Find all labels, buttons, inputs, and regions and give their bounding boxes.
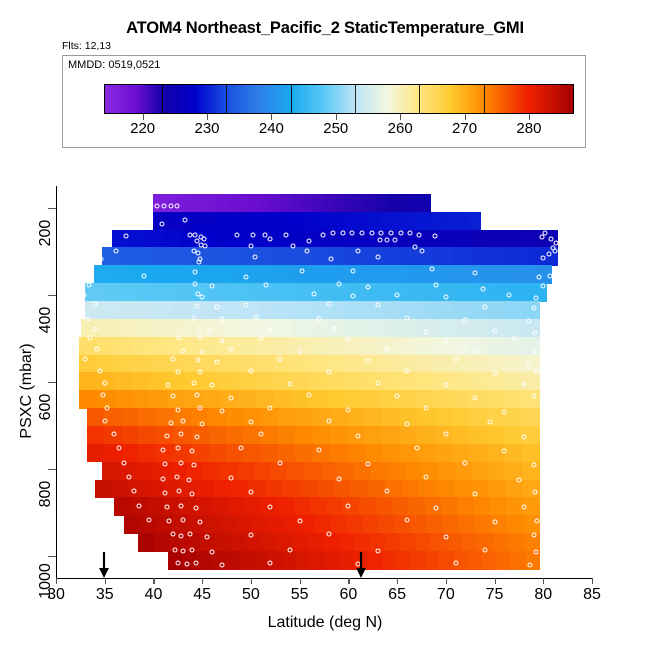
data-point-marker	[253, 314, 258, 319]
data-point-marker	[473, 491, 478, 496]
heatmap-cell	[261, 444, 279, 462]
data-point-marker	[480, 286, 485, 291]
heatmap-cell	[120, 247, 138, 265]
heatmap-cell	[114, 390, 132, 408]
data-point-marker	[527, 562, 532, 567]
data-point-marker	[531, 348, 536, 353]
heatmap-cell	[325, 551, 340, 570]
heatmap-cell	[120, 301, 138, 319]
heatmap-cell	[344, 390, 362, 408]
heatmap-cell	[300, 480, 318, 498]
heatmap-cell	[459, 515, 476, 533]
heatmap-cell	[365, 408, 383, 426]
data-point-marker	[443, 295, 448, 300]
heatmap-cell	[215, 533, 231, 551]
heatmap-cell	[122, 408, 140, 426]
heatmap-cell	[410, 551, 425, 570]
colorbar-segment-divider	[419, 84, 420, 114]
heatmap-cell	[472, 462, 490, 480]
heatmap-cell	[452, 426, 470, 444]
data-point-marker	[389, 230, 394, 235]
heatmap-cell	[244, 283, 263, 301]
heatmap-cell	[425, 551, 440, 570]
heatmap-cell	[435, 408, 453, 426]
data-point-marker	[287, 548, 292, 553]
heatmap-cell	[274, 337, 292, 355]
heatmap-cell	[292, 212, 305, 230]
heatmap-cell	[334, 480, 352, 498]
heatmap-cell	[122, 426, 140, 444]
data-point-marker	[430, 266, 435, 271]
heatmap-cell	[103, 283, 122, 301]
data-point-marker	[131, 488, 136, 493]
data-point-marker	[268, 504, 273, 509]
data-point-marker	[122, 460, 127, 465]
x-axis-tick	[397, 578, 398, 584]
heatmap-cell	[474, 497, 491, 515]
heatmap-cell	[402, 480, 420, 498]
heatmap-cell	[505, 247, 523, 265]
heatmap-cell	[132, 355, 150, 373]
data-point-marker	[161, 447, 166, 452]
heatmap-cell	[278, 444, 296, 462]
heatmap-cell	[469, 319, 487, 337]
data-point-marker	[375, 548, 380, 553]
heatmap-cell	[405, 212, 418, 230]
heatmap-cell	[209, 426, 227, 444]
heatmap-cell	[468, 355, 486, 373]
data-point-marker	[365, 285, 370, 290]
data-point-marker	[287, 381, 292, 386]
data-point-marker	[453, 357, 458, 362]
heatmap-cell	[504, 408, 522, 426]
heatmap-cell	[521, 390, 539, 408]
heatmap-cell	[291, 372, 309, 390]
heatmap-cell	[120, 283, 139, 301]
heatmap-cell	[270, 265, 288, 283]
x-axis-tick-label: 65	[388, 586, 406, 604]
heatmap-cell	[455, 212, 468, 230]
heatmap-cell	[397, 372, 415, 390]
heatmap-cell	[228, 497, 245, 515]
data-point-marker	[124, 234, 129, 239]
data-point-marker	[200, 349, 205, 354]
heatmap-cell	[504, 390, 522, 408]
heatmap-cell	[287, 265, 305, 283]
data-point-marker	[492, 328, 497, 333]
data-point-marker	[168, 420, 173, 425]
heatmap-cell	[134, 319, 152, 337]
heatmap-cell	[439, 551, 454, 570]
data-point-marker	[209, 383, 214, 388]
heatmap-cell	[295, 444, 313, 462]
heatmap-cell	[488, 480, 506, 498]
heatmap-cell	[504, 426, 522, 444]
heatmap-cell	[191, 212, 204, 230]
data-point-marker	[377, 238, 382, 243]
data-point-marker	[278, 461, 283, 466]
data-point-marker	[193, 232, 198, 237]
x-axis-tick-label: 85	[583, 586, 601, 604]
heatmap-cell	[439, 283, 458, 301]
heatmap-cell	[136, 462, 154, 480]
heatmap-cell	[451, 337, 469, 355]
heatmap-cell	[430, 212, 443, 230]
heatmap-cell	[419, 194, 430, 212]
colorbar-tick-label: 280	[516, 120, 541, 137]
heatmap-cell	[222, 319, 240, 337]
heatmap-cell	[256, 372, 274, 390]
heatmap-cell	[451, 390, 469, 408]
heatmap-cell	[241, 212, 254, 230]
data-point-marker	[258, 336, 263, 341]
data-point-marker	[98, 257, 103, 262]
heatmap-cell	[104, 408, 122, 426]
x-axis-tick-label: 70	[437, 586, 455, 604]
heatmap-cell	[489, 462, 507, 480]
heatmap-cell	[347, 301, 365, 319]
data-point-marker	[482, 547, 487, 552]
heatmap-cell	[138, 533, 154, 551]
heatmap-cell	[203, 212, 216, 230]
data-point-marker	[336, 282, 341, 287]
heatmap-cell	[229, 212, 242, 230]
heatmap-cell	[419, 480, 437, 498]
data-point-marker	[424, 406, 429, 411]
data-point-marker	[170, 532, 175, 537]
data-point-marker	[350, 230, 355, 235]
data-point-marker	[463, 460, 468, 465]
heatmap-cell	[304, 462, 322, 480]
heatmap-cell	[79, 390, 97, 408]
heatmap-cell	[238, 390, 256, 408]
x-axis-tick	[56, 578, 57, 584]
heatmap-cell	[359, 497, 376, 515]
heatmap-cell	[295, 426, 313, 444]
data-point-marker	[379, 230, 384, 235]
heatmap-cell	[274, 390, 292, 408]
heatmap-cell	[340, 265, 358, 283]
heatmap-cell	[382, 426, 400, 444]
data-point-marker	[178, 503, 183, 508]
data-point-marker	[268, 237, 273, 242]
data-point-marker	[434, 283, 439, 288]
heatmap-cell	[380, 212, 393, 230]
data-point-marker	[424, 474, 429, 479]
heatmap-cell	[231, 480, 249, 498]
heatmap-cell	[415, 355, 433, 373]
x-axis-tick-label: 55	[291, 586, 309, 604]
heatmap-cell	[472, 230, 490, 248]
data-point-marker	[548, 273, 553, 278]
data-point-marker	[114, 249, 119, 254]
heatmap-cell	[435, 444, 453, 462]
heatmap-cell	[397, 337, 415, 355]
heatmap-cell	[124, 515, 141, 533]
heatmap-cell	[348, 444, 366, 462]
heatmap-cell	[315, 515, 332, 533]
data-point-marker	[393, 238, 398, 243]
heatmap-cell	[354, 533, 370, 551]
x-axis-tick	[251, 578, 252, 584]
heatmap-cell	[245, 497, 262, 515]
data-point-marker	[192, 462, 197, 467]
heatmap-cell	[309, 355, 327, 373]
heatmap-cell	[358, 265, 376, 283]
heatmap-cell	[310, 319, 328, 337]
data-point-marker	[533, 489, 538, 494]
data-point-marker	[365, 461, 370, 466]
data-point-marker	[180, 517, 185, 522]
y-axis-tick-label: 800	[37, 469, 55, 519]
data-point-marker	[443, 535, 448, 540]
data-point-marker	[385, 347, 390, 352]
data-point-marker	[248, 369, 253, 374]
data-point-marker	[365, 359, 370, 364]
data-point-marker	[541, 256, 546, 261]
data-point-marker	[186, 477, 191, 482]
heatmap-cell	[496, 551, 511, 570]
data-point-marker	[163, 461, 168, 466]
data-point-marker	[502, 409, 507, 414]
data-point-marker	[200, 295, 205, 300]
heatmap-cell	[510, 551, 525, 570]
heatmap-cell	[468, 390, 486, 408]
heatmap-cell	[277, 497, 294, 515]
data-point-marker	[443, 432, 448, 437]
x-axis-tick-label: 45	[193, 586, 211, 604]
colorbar-tick-label: 220	[130, 120, 155, 137]
data-point-marker	[346, 337, 351, 342]
colorbar-gradient	[104, 84, 574, 114]
data-point-marker	[331, 326, 336, 331]
heatmap-cell	[261, 426, 279, 444]
heatmap-cell	[260, 247, 278, 265]
heatmap-cell	[220, 515, 237, 533]
heatmap-cell	[443, 212, 456, 230]
data-point-marker	[453, 560, 458, 565]
heatmap-cell	[382, 247, 400, 265]
heatmap-cell	[137, 301, 155, 319]
data-point-marker	[104, 406, 109, 411]
data-point-marker	[263, 283, 268, 288]
heatmap-cell	[339, 551, 354, 570]
data-point-marker	[482, 305, 487, 310]
heatmap-cell	[504, 301, 522, 319]
data-point-marker	[307, 238, 312, 243]
heatmap-cell	[438, 230, 456, 248]
heatmap-cell	[277, 301, 295, 319]
data-point-marker	[178, 534, 183, 539]
heatmap-cell	[417, 444, 435, 462]
heatmap-cell	[226, 426, 244, 444]
heatmap-cell	[362, 355, 380, 373]
data-point-marker	[398, 230, 403, 235]
heatmap-cell	[291, 355, 309, 373]
data-point-marker	[178, 460, 183, 465]
heatmap-cell	[438, 462, 456, 480]
data-point-marker	[404, 369, 409, 374]
heatmap-cell	[274, 355, 292, 373]
data-point-marker	[198, 406, 203, 411]
heatmap-cell	[408, 497, 425, 515]
heatmap-cell	[388, 462, 406, 480]
heatmap-cell	[95, 480, 113, 498]
heatmap-cell	[522, 444, 540, 462]
data-point-marker	[100, 393, 105, 398]
data-point-marker	[521, 504, 526, 509]
mmdd-label: MMDD: 0519,0521	[68, 59, 160, 71]
page-title: ATOM4 Northeast_Pacific_2 StaticTemperat…	[0, 19, 650, 38]
heatmap-cell	[317, 212, 330, 230]
data-point-marker	[162, 203, 167, 208]
data-point-marker	[473, 271, 478, 276]
data-point-marker	[229, 347, 234, 352]
heatmap-cell	[411, 265, 429, 283]
heatmap-cell	[457, 283, 476, 301]
heatmap-cell	[132, 390, 150, 408]
colorbar: 220230240250260270280	[104, 84, 574, 114]
heatmap-cell	[156, 515, 173, 533]
data-point-marker	[312, 292, 317, 297]
heatmap-cell	[102, 462, 120, 480]
data-point-marker	[326, 532, 331, 537]
data-point-marker	[535, 370, 540, 375]
data-point-marker	[360, 230, 365, 235]
data-point-marker	[252, 254, 257, 259]
data-point-marker	[175, 370, 180, 375]
heatmap-cell	[367, 212, 380, 230]
heatmap-cell	[392, 212, 405, 230]
data-point-marker	[102, 380, 107, 385]
heatmap-cell	[204, 515, 221, 533]
heatmap-cell	[454, 480, 472, 498]
heatmap-cell	[351, 480, 369, 498]
data-point-marker	[92, 326, 97, 331]
heatmap-cell	[380, 355, 398, 373]
data-point-marker	[180, 419, 185, 424]
data-point-marker	[297, 348, 302, 353]
data-point-marker	[534, 295, 539, 300]
heatmap-cell	[317, 480, 335, 498]
colorbar-tick-label: 270	[452, 120, 477, 137]
heatmap-cell	[296, 551, 311, 570]
data-point-marker	[193, 282, 198, 287]
data-point-marker	[193, 270, 198, 275]
annotation-arrow-down-icon	[97, 552, 110, 578]
data-point-marker	[416, 232, 421, 237]
data-point-marker	[283, 233, 288, 238]
heatmap-cell	[114, 355, 132, 373]
heatmap-cell	[455, 230, 473, 248]
heatmap-cell	[172, 301, 190, 319]
heatmap-cell	[180, 480, 198, 498]
heatmap-cell	[239, 551, 254, 570]
heatmap-cell	[146, 265, 164, 283]
data-point-marker	[434, 506, 439, 511]
heatmap-cell	[331, 515, 348, 533]
data-point-marker	[102, 419, 107, 424]
data-point-marker	[161, 476, 166, 481]
heatmap-cell	[469, 426, 487, 444]
heatmap-cell	[164, 230, 182, 248]
data-point-marker	[195, 434, 200, 439]
heatmap-cell	[380, 319, 398, 337]
heatmap-cell	[99, 319, 117, 337]
data-point-marker	[356, 434, 361, 439]
data-point-marker	[165, 505, 170, 510]
heatmap-cell	[79, 372, 97, 390]
data-point-marker	[174, 204, 179, 209]
heatmap-cell	[238, 337, 256, 355]
heatmap-cell	[368, 551, 383, 570]
y-axis-tick-label: 400	[37, 295, 55, 345]
data-point-marker	[326, 370, 331, 375]
heatmap-cell	[212, 497, 229, 515]
heatmap-cell	[138, 283, 157, 301]
data-point-marker	[385, 238, 390, 243]
data-point-marker	[531, 462, 536, 467]
data-point-marker	[167, 519, 172, 524]
heatmap-cell	[164, 265, 182, 283]
heatmap-cell	[114, 497, 131, 515]
heatmap-cell	[522, 480, 540, 498]
heatmap-cell	[150, 337, 168, 355]
heatmap-cell	[435, 247, 453, 265]
heatmap-cell	[139, 426, 157, 444]
y-axis-tick-label: 200	[37, 208, 55, 258]
data-point-marker	[317, 316, 322, 321]
data-point-marker	[290, 244, 295, 249]
heatmap-cell	[287, 462, 305, 480]
data-point-marker	[229, 475, 234, 480]
data-point-marker	[188, 532, 193, 537]
data-point-marker	[375, 254, 380, 259]
heatmap-cell	[243, 444, 261, 462]
heatmap-cell	[132, 372, 150, 390]
data-point-marker	[531, 393, 536, 398]
heatmap-cell	[139, 444, 157, 462]
heatmap-cell	[468, 212, 481, 230]
heatmap-cell	[239, 319, 257, 337]
heatmap-cell	[516, 265, 534, 283]
heatmap-cell	[209, 444, 227, 462]
heatmap-cell	[309, 372, 327, 390]
heatmap-cell	[150, 372, 168, 390]
heatmap-cell	[221, 372, 239, 390]
colorbar-segment-divider	[355, 84, 356, 114]
heatmap-cell	[283, 480, 301, 498]
data-point-marker	[351, 293, 356, 298]
heatmap-cell	[382, 408, 400, 426]
heatmap-cell	[310, 551, 325, 570]
x-axis-tick	[446, 578, 447, 584]
heatmap-cell	[151, 319, 169, 337]
heatmap-cell	[365, 444, 383, 462]
heatmap-cell	[446, 265, 464, 283]
x-axis-title: Latitude (deg N)	[0, 614, 650, 632]
data-point-marker	[531, 533, 536, 538]
heatmap-cell	[309, 390, 327, 408]
heatmap-cell	[329, 212, 342, 230]
heatmap-cell	[504, 444, 522, 462]
heatmap-cell	[368, 480, 386, 498]
heatmap-cell	[226, 408, 244, 426]
heatmap-cell	[486, 337, 504, 355]
flights-label: Flts: 12,13	[62, 40, 111, 52]
heatmap-cell	[365, 426, 383, 444]
heatmap-cell	[344, 355, 362, 373]
